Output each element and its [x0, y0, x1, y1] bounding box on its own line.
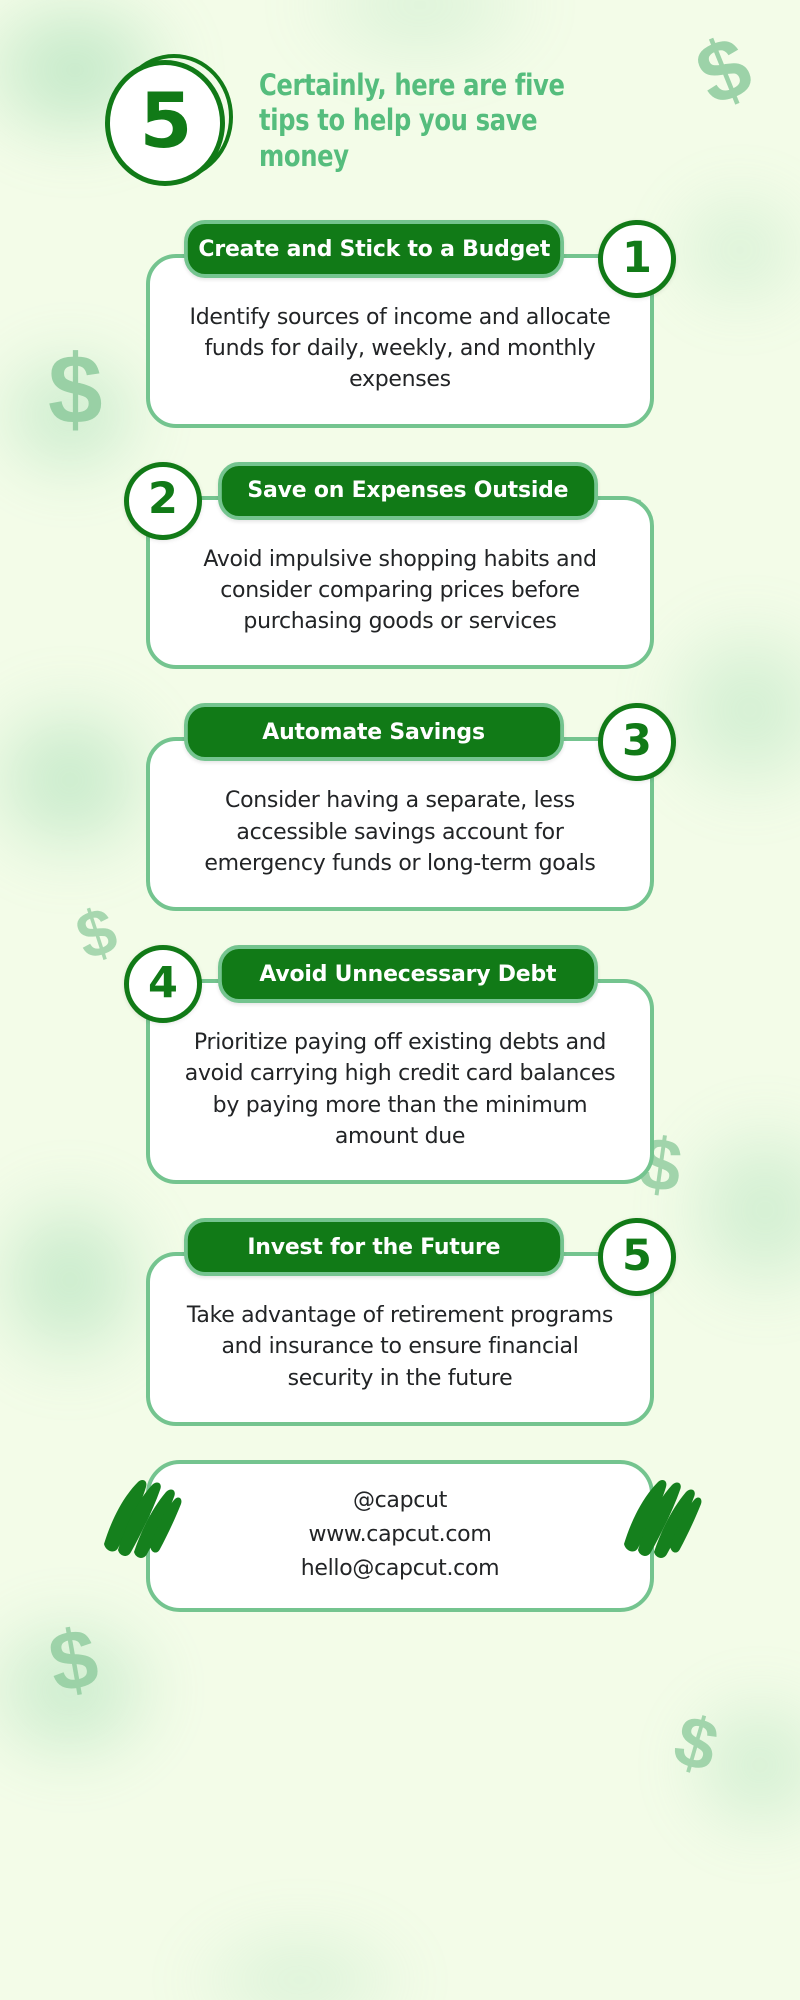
footer-contact-card: @capcut www.capcut.com hello@capcut.com — [146, 1460, 654, 1612]
tip-description: Avoid impulsive shopping habits and cons… — [184, 544, 616, 638]
tip-number: 5 — [622, 1235, 652, 1278]
tip-body: Take advantage of retirement programs an… — [146, 1252, 654, 1426]
tip-description: Take advantage of retirement programs an… — [184, 1300, 616, 1394]
tip-description: Prioritize paying off existing debts and… — [184, 1027, 616, 1152]
tip-card: 2Save on Expenses OutsideAvoid impulsive… — [146, 462, 654, 670]
header: 5 Certainly, here are five tips to help … — [0, 0, 800, 186]
tip-card: 1Create and Stick to a BudgetIdentify so… — [146, 220, 654, 428]
tip-body: Identify sources of income and allocate … — [146, 254, 654, 428]
tip-body: Avoid impulsive shopping habits and cons… — [146, 496, 654, 670]
tip-description: Consider having a separate, less accessi… — [184, 785, 616, 879]
tip-title: Create and Stick to a Budget — [198, 237, 550, 262]
tip-number: 4 — [148, 962, 178, 1005]
tip-title-pill: Save on Expenses Outside — [218, 462, 598, 520]
tips-list: 1Create and Stick to a BudgetIdentify so… — [0, 220, 800, 1426]
tip-number: 1 — [622, 237, 652, 280]
tip-number: 2 — [148, 478, 178, 521]
tip-title-pill: Avoid Unnecessary Debt — [218, 945, 598, 1003]
tip-number-badge: 3 — [598, 703, 676, 781]
tip-title-pill: Create and Stick to a Budget — [184, 220, 564, 278]
dollar-sign-icon: $ — [667, 1704, 725, 1784]
hero-badge-inner-ring: 5 — [105, 60, 225, 186]
tip-title-pill: Automate Savings — [184, 703, 564, 761]
tip-number-badge: 2 — [124, 462, 202, 540]
watercolor-cloud — [120, 1880, 480, 2000]
tip-number-badge: 4 — [124, 945, 202, 1023]
page-title: Certainly, here are five tips to help yo… — [259, 48, 622, 174]
tip-number-badge: 5 — [598, 1218, 676, 1296]
tip-number: 3 — [622, 720, 652, 763]
footer-email[interactable]: hello@capcut.com — [184, 1552, 616, 1586]
tip-card: 3Automate SavingsConsider having a separ… — [146, 703, 654, 911]
footer: @capcut www.capcut.com hello@capcut.com — [146, 1460, 654, 1612]
watercolor-cloud — [630, 1640, 800, 1890]
hero-badge-number: 5 — [140, 83, 191, 159]
tip-description: Identify sources of income and allocate … — [184, 302, 616, 396]
tip-number-badge: 1 — [598, 220, 676, 298]
tip-title: Avoid Unnecessary Debt — [260, 962, 557, 987]
tip-title: Automate Savings — [263, 720, 486, 745]
hero-number-badge: 5 — [105, 54, 233, 186]
dollar-sign-icon: $ — [43, 1615, 104, 1706]
tip-body: Prioritize paying off existing debts and… — [146, 979, 654, 1184]
tip-card: 4Avoid Unnecessary DebtPrioritize paying… — [146, 945, 654, 1184]
tip-body: Consider having a separate, less accessi… — [146, 737, 654, 911]
tip-title-pill: Invest for the Future — [184, 1218, 564, 1276]
tip-title: Save on Expenses Outside — [248, 478, 569, 503]
tip-card: 5Invest for the FutureTake advantage of … — [146, 1218, 654, 1426]
infographic-page: $$$$$$$ 5 Certainly, here are five tips … — [0, 0, 800, 2000]
footer-handle: @capcut — [184, 1484, 616, 1518]
tip-title: Invest for the Future — [247, 1235, 500, 1260]
footer-website[interactable]: www.capcut.com — [184, 1518, 616, 1552]
